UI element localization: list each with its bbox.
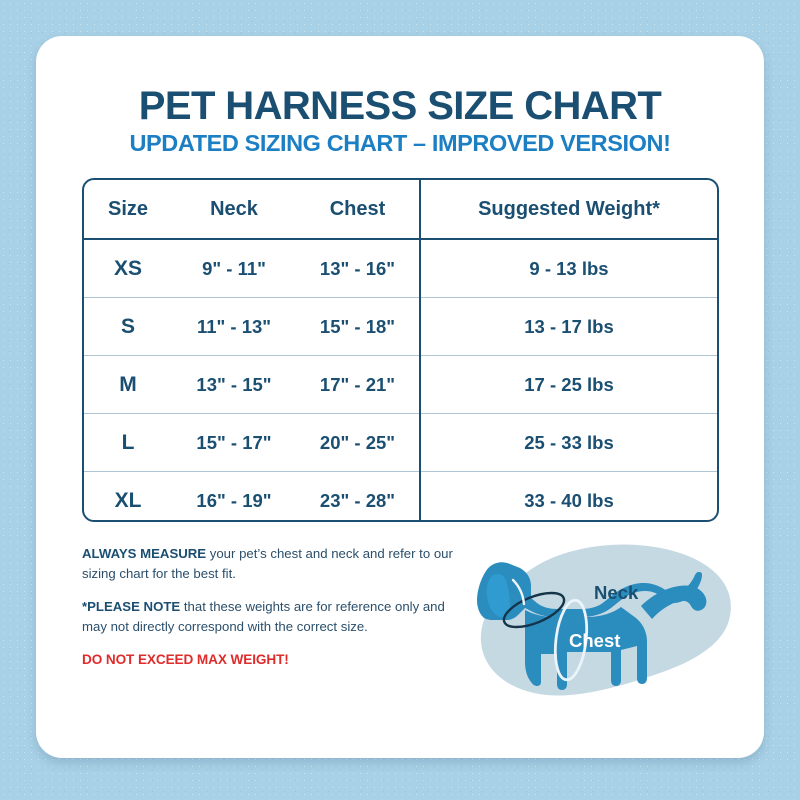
cell-neck: 9" - 11" <box>172 239 296 298</box>
cell-weight: 9 - 13 lbs <box>420 239 717 298</box>
table-row: XL 16" - 19" 23" - 28" 33 - 40 lbs <box>84 472 717 523</box>
dog-measurement-illustration: Neck Chest <box>461 534 741 719</box>
max-weight-warning: DO NOT EXCEED MAX WEIGHT! <box>82 650 467 670</box>
table-header: Size Neck Chest Suggested Weight* <box>84 180 717 239</box>
cell-weight: 13 - 17 lbs <box>420 298 717 356</box>
size-chart-table-container: Size Neck Chest Suggested Weight* XS 9" … <box>82 178 719 522</box>
column-header-chest: Chest <box>296 180 420 239</box>
column-header-neck: Neck <box>172 180 296 239</box>
size-chart-table: Size Neck Chest Suggested Weight* XS 9" … <box>84 180 717 522</box>
page-title: PET HARNESS SIZE CHART <box>36 84 764 129</box>
cell-chest: 17" - 21" <box>296 356 420 414</box>
cell-size: S <box>84 298 172 356</box>
cell-size: XS <box>84 239 172 298</box>
cell-size: L <box>84 414 172 472</box>
cell-chest: 23" - 28" <box>296 472 420 523</box>
note-measure: ALWAYS MEASURE your pet’s chest and neck… <box>82 544 467 583</box>
cell-neck: 13" - 15" <box>172 356 296 414</box>
neck-label: Neck <box>594 582 638 604</box>
table-row: XS 9" - 11" 13" - 16" 9 - 13 lbs <box>84 239 717 298</box>
note-please-lead: *PLEASE NOTE <box>82 599 180 614</box>
table-header-row: Size Neck Chest Suggested Weight* <box>84 180 717 239</box>
page-subtitle: UPDATED SIZING CHART – IMPROVED VERSION! <box>36 130 764 157</box>
cell-chest: 13" - 16" <box>296 239 420 298</box>
cell-weight: 17 - 25 lbs <box>420 356 717 414</box>
chest-label: Chest <box>569 630 620 652</box>
cell-size: M <box>84 356 172 414</box>
cell-weight: 33 - 40 lbs <box>420 472 717 523</box>
table-row: L 15" - 17" 20" - 25" 25 - 33 lbs <box>84 414 717 472</box>
cell-weight: 25 - 33 lbs <box>420 414 717 472</box>
column-header-weight: Suggested Weight* <box>420 180 717 239</box>
dog-silhouette-icon <box>461 534 741 719</box>
cell-neck: 16" - 19" <box>172 472 296 523</box>
size-chart-card: PET HARNESS SIZE CHART UPDATED SIZING CH… <box>36 36 764 758</box>
table-row: M 13" - 15" 17" - 21" 17 - 25 lbs <box>84 356 717 414</box>
footnotes: ALWAYS MEASURE your pet’s chest and neck… <box>82 544 467 670</box>
table-body: XS 9" - 11" 13" - 16" 9 - 13 lbs S 11" -… <box>84 239 717 522</box>
cell-chest: 20" - 25" <box>296 414 420 472</box>
column-header-size: Size <box>84 180 172 239</box>
note-measure-lead: ALWAYS MEASURE <box>82 546 206 561</box>
table-row: S 11" - 13" 15" - 18" 13 - 17 lbs <box>84 298 717 356</box>
cell-neck: 15" - 17" <box>172 414 296 472</box>
cell-neck: 11" - 13" <box>172 298 296 356</box>
note-please: *PLEASE NOTE that these weights are for … <box>82 597 467 636</box>
cell-size: XL <box>84 472 172 523</box>
cell-chest: 15" - 18" <box>296 298 420 356</box>
